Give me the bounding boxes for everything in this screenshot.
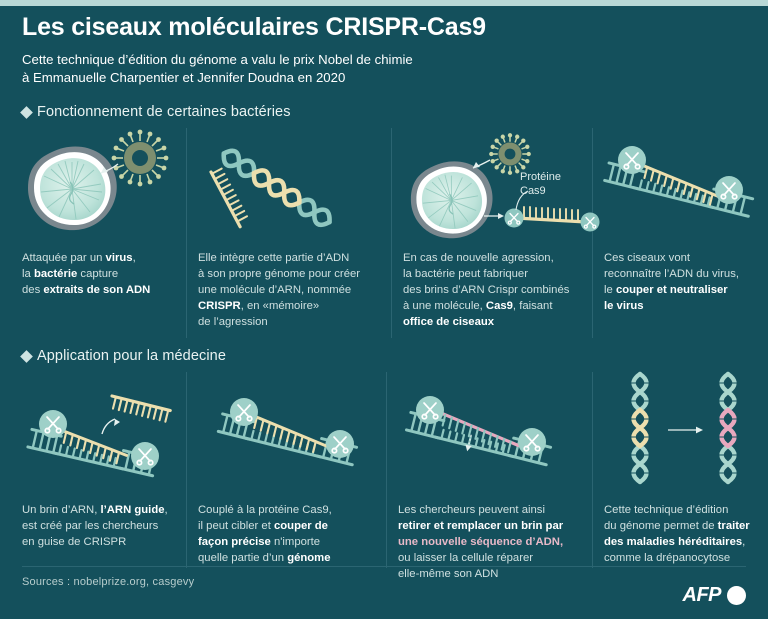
scissors-icon <box>416 396 444 424</box>
cas9-label-line-1: Protéine <box>520 171 561 183</box>
top-accent-rule <box>0 0 768 6</box>
page-title: Les ciseaux moléculaires CRISPR-Cas9 <box>22 14 722 42</box>
diamond-bullet-icon <box>20 106 33 119</box>
subtitle-line-1: Cette technique d’édition du génome a va… <box>22 52 413 67</box>
panel-1-1-illustration <box>14 132 186 240</box>
scissors-icon <box>131 442 159 470</box>
column-separator <box>391 128 392 338</box>
page-subtitle: Cette technique d’édition du génome a va… <box>22 51 722 87</box>
cas9-label-line-2: Cas9 <box>520 185 546 197</box>
panel-1-4-illustration <box>604 138 764 243</box>
section-title-bacteria: Fonctionnement de certaines bactéries <box>37 104 291 120</box>
column-separator <box>386 372 387 568</box>
virus-icon <box>489 133 531 175</box>
infographic-root: Les ciseaux moléculaires CRISPR-Cas9 Cet… <box>0 0 768 619</box>
caption-panel-1-3: En cas de nouvelle agression,la bactérie… <box>403 250 589 330</box>
scissors-icon <box>715 176 743 204</box>
arrow-icon <box>102 419 120 434</box>
virus-icon <box>112 130 169 187</box>
scissors-icon <box>39 410 67 438</box>
column-separator <box>592 128 593 338</box>
panel-1-3-illustration: Protéine Cas9 <box>404 134 589 246</box>
afp-logo-text: AFP <box>683 584 722 607</box>
dna-double-helix-icon <box>631 374 649 482</box>
rna-strand-icon <box>109 396 170 422</box>
bacterium-icon <box>411 161 493 238</box>
panel-2-3-illustration <box>400 392 580 488</box>
afp-logo: AFP <box>683 584 747 607</box>
caption-panel-1-4: Ces ciseaux vontreconnaître l’ADN du vir… <box>604 250 760 314</box>
column-separator <box>186 372 187 568</box>
scissors-icon <box>518 428 546 456</box>
scissors-icon <box>618 146 646 174</box>
section-title-medicine: Application pour la médecine <box>37 348 226 364</box>
scissors-icon <box>505 209 524 228</box>
caption-panel-2-4: Cette technique d’éditiondu génome perme… <box>604 502 760 566</box>
caption-panel-2-3: Les chercheurs peuvent ainsiretirer et r… <box>398 502 588 582</box>
bacterium-icon <box>28 146 117 230</box>
subtitle-line-2: à Emmanuelle Charpentier et Jennifer Dou… <box>22 70 345 85</box>
panel-1-2-illustration <box>205 140 380 245</box>
afp-logo-dot-icon <box>727 586 746 605</box>
caption-panel-2-2: Couplé à la protéine Cas9,il peut cibler… <box>198 502 380 566</box>
panel-2-1-illustration <box>14 382 186 488</box>
panel-2-4-illustration <box>606 374 762 490</box>
scissors-icon <box>326 430 354 458</box>
dna-double-helix-icon <box>219 147 333 229</box>
header: Les ciseaux moléculaires CRISPR-Cas9 Cet… <box>22 14 722 87</box>
section-heading-medicine: Application pour la médecine <box>22 348 226 364</box>
scissors-icon <box>230 398 258 426</box>
column-separator <box>592 372 593 568</box>
footer-divider <box>22 566 746 567</box>
arrow-icon <box>668 427 703 434</box>
diamond-bullet-icon <box>20 350 33 363</box>
arrow-icon <box>473 160 490 168</box>
caption-panel-1-2: Elle intègre cette partie d’ADNà son pro… <box>198 250 384 330</box>
section-heading-bacteria: Fonctionnement de certaines bactéries <box>22 104 291 120</box>
caption-panel-1-1: Attaquée par un virus,la bactérie captur… <box>22 250 180 298</box>
cas9-guide-complex <box>505 191 600 232</box>
dna-double-helix-edited-icon <box>719 374 737 482</box>
scissors-icon <box>581 213 600 232</box>
column-separator <box>186 128 187 338</box>
panel-2-2-illustration <box>210 392 378 488</box>
sources-text: Sources : nobelprize.org, casgevy <box>22 576 194 588</box>
caption-panel-2-1: Un brin d’ARN, l’ARN guide,est créé par … <box>22 502 184 550</box>
